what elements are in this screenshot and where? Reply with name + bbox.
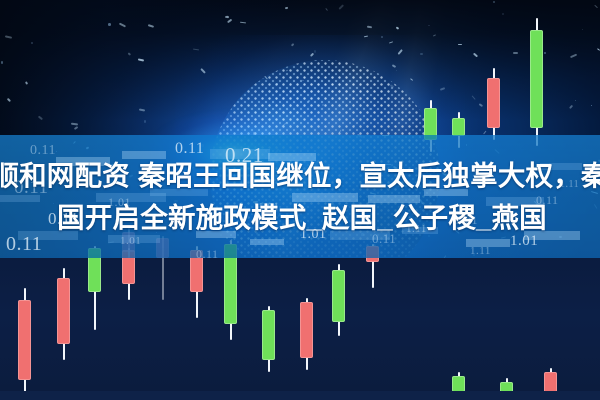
headline-text-block: 顺和网配资 秦昭王回国继位，宣太后独掌大权，秦 国开启全新施政模式_赵国_公子稷…: [0, 135, 600, 258]
chart-bottom-strip: [0, 391, 600, 400]
candle-body: [452, 118, 465, 136]
candle-body: [530, 30, 543, 128]
candle-body: [487, 78, 500, 128]
headline-line-2: 国开启全新施政模式_赵国_公子稷_燕国: [53, 198, 547, 238]
candle-body: [452, 376, 465, 392]
stock-banner-image: 0.110.111.010.110.111.010.110.211.010.11…: [0, 0, 600, 400]
candle-body: [262, 310, 275, 360]
candle-body: [300, 302, 313, 358]
candle-body: [57, 278, 70, 344]
candle-body: [332, 270, 345, 322]
candle-body: [18, 300, 31, 380]
headline-line-1: 顺和网配资 秦昭王回国继位，宣太后独掌大权，秦: [0, 156, 600, 196]
